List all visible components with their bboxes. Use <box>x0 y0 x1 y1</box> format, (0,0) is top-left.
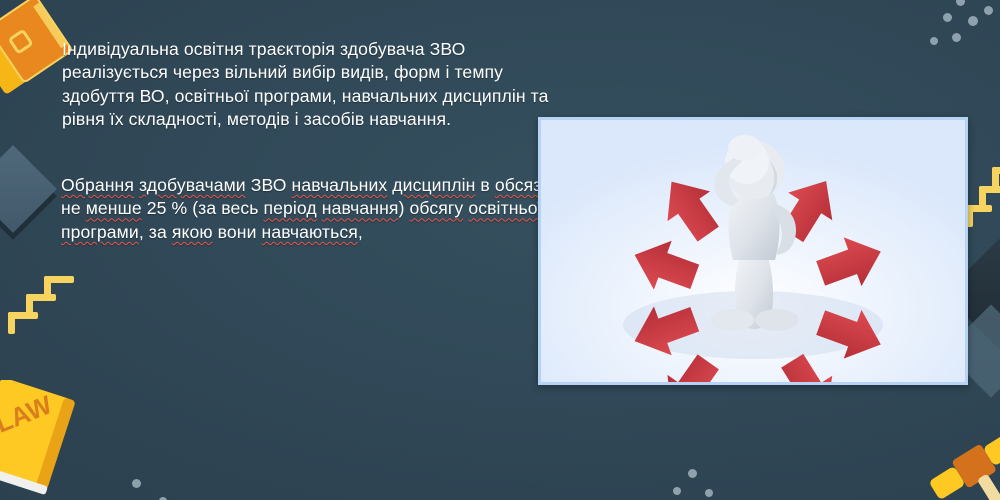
paragraph-intro: Індивідуальна освітня траєкторія здобува… <box>62 38 562 132</box>
dot-decoration <box>968 16 978 26</box>
dot-decoration <box>952 33 961 42</box>
chevron-right-1-icon <box>966 205 992 227</box>
spell-word: якою <box>172 222 213 242</box>
spell-word: освітньої <box>468 198 542 218</box>
chevron-right-2-icon <box>979 186 1000 208</box>
spell-word: обсягу <box>410 198 464 218</box>
slide-text-column: Індивідуальна освітня траєкторія здобува… <box>62 38 562 132</box>
spell-word: навчаються <box>262 222 358 242</box>
dot-decoration <box>132 479 141 488</box>
spell-word: менше <box>86 198 142 218</box>
spell-word: програми <box>61 222 139 242</box>
spell-word: період <box>264 198 317 218</box>
slide-canvas: LAW Інд <box>0 0 1000 500</box>
dot-decoration <box>943 13 952 22</box>
book-law-bottom-left-icon: LAW <box>0 380 81 495</box>
dot-decoration <box>930 37 938 45</box>
spell-word: дисциплін <box>392 175 475 195</box>
spell-word: Обрання <box>61 175 134 195</box>
dot-decoration <box>673 487 681 495</box>
illustration-graphic <box>541 120 965 382</box>
spell-word: навчальних <box>292 175 388 195</box>
gavel-bottom-right-icon <box>918 420 1000 500</box>
dot-decoration <box>688 469 697 478</box>
paragraph-selection: Обрання здобувачами ЗВО навчальних дисци… <box>61 174 565 244</box>
chevron-right-3-icon <box>992 167 1000 189</box>
diamond-left-decoration <box>0 145 57 233</box>
spell-word: навчання <box>322 198 399 218</box>
chevron-left-3-icon <box>44 276 74 298</box>
dot-decoration <box>705 489 713 497</box>
spell-word: здобувачами <box>139 175 246 195</box>
illustration-image[interactable] <box>538 117 968 385</box>
dot-decoration <box>984 6 993 15</box>
dot-decoration <box>956 0 965 6</box>
percentage-value: 25 % <box>147 198 188 218</box>
